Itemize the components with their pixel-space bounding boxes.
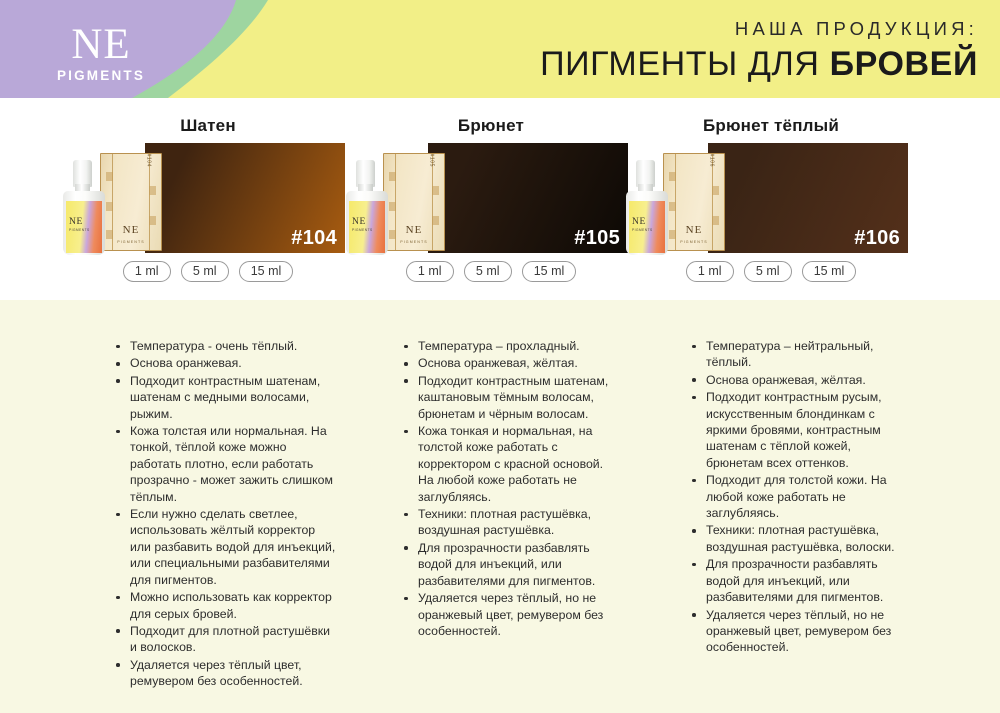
box-notch	[389, 172, 396, 181]
box-notch	[669, 172, 676, 181]
box-code-label: #106	[709, 153, 715, 167]
box-brand-label: NE	[101, 224, 161, 236]
product-descriptions-section: Температура - очень тёплый.Основа оранже…	[0, 300, 1000, 713]
volume-option-15ml[interactable]: 15 ml	[239, 261, 294, 282]
product-code: #105	[574, 227, 620, 250]
product-color-swatch: #104	[145, 143, 345, 253]
box-brand-sublabel: PIGMENTS	[384, 240, 444, 244]
header-title-group: НАША ПРОДУКЦИЯ: ПИГМЕНТЫ ДЛЯ БРОВЕЙ	[540, 18, 978, 84]
description-item: Удаляется через тёплый цвет, ремувером б…	[112, 657, 337, 690]
product-color-swatch: #105	[428, 143, 628, 253]
description-item: Температура - очень тёплый.	[112, 338, 337, 354]
description-list: Температура - очень тёплый.Основа оранже…	[112, 338, 337, 690]
description-item: Для прозрачности разбавлять водой для ин…	[400, 540, 618, 589]
product-code: #104	[291, 227, 337, 250]
product-card[interactable]: Брюнет тёплый #106 #106 NE PIGMENTS	[625, 98, 917, 300]
volume-option-5ml[interactable]: 5 ml	[464, 261, 512, 282]
volume-options: 1 ml 5 ml 15 ml	[345, 261, 637, 282]
bottle-label-sub: PIGMENTS	[69, 228, 90, 232]
product-card[interactable]: Шатен #104 #104 NE PIGMENTS	[62, 98, 354, 300]
brand-logo-main: NE	[36, 22, 166, 67]
bottle-label-brand: NE	[69, 217, 83, 227]
volume-options: 1 ml 5 ml 15 ml	[62, 261, 354, 282]
brand-logo: NE PIGMENTS	[36, 22, 166, 84]
product-catalog-page: NE PIGMENTS НАША ПРОДУКЦИЯ: ПИГМЕНТЫ ДЛЯ…	[0, 0, 1000, 713]
box-brand-label: NE	[664, 224, 724, 236]
page-title-prefix: ПИГМЕНТЫ ДЛЯ	[540, 45, 830, 83]
description-item: Основа оранжевая, жёлтая.	[400, 355, 618, 371]
description-item: Подходит контрастным шатенам, каштановым…	[400, 373, 618, 422]
box-notch	[389, 202, 396, 211]
description-item: Для прозрачности разбавлять водой для ин…	[688, 556, 906, 605]
bottle-body: NE PIGMENTS	[626, 191, 668, 255]
pigment-bottle-image: NE PIGMENTS	[62, 160, 106, 256]
bottle-label-brand: NE	[352, 217, 366, 227]
bottle-cap	[636, 160, 655, 187]
wooden-box-image: #104 NE PIGMENTS	[100, 153, 162, 251]
box-notch	[432, 186, 439, 195]
header-kicker: НАША ПРОДУКЦИЯ:	[540, 18, 978, 40]
description-column: Температура – прохладный.Основа оранжева…	[400, 338, 618, 640]
description-item: Техники: плотная растушёвка, воздушная р…	[400, 506, 618, 539]
bottle-label-sub: PIGMENTS	[352, 228, 373, 232]
box-brand-label: NE	[384, 224, 444, 236]
volume-option-15ml[interactable]: 15 ml	[522, 261, 577, 282]
description-column: Температура - очень тёплый.Основа оранже…	[112, 338, 337, 691]
page-header: NE PIGMENTS НАША ПРОДУКЦИЯ: ПИГМЕНТЫ ДЛЯ…	[0, 0, 1000, 98]
description-item: Подходит контрастным русым, искусственны…	[688, 389, 906, 471]
box-brand-sublabel: PIGMENTS	[664, 240, 724, 244]
pigment-bottle-image: NE PIGMENTS	[345, 160, 389, 256]
bottle-label-sub: PIGMENTS	[632, 228, 653, 232]
product-title: Брюнет	[345, 116, 637, 136]
volume-option-15ml[interactable]: 15 ml	[802, 261, 857, 282]
description-item: Подходит для толстой кожи. На любой коже…	[688, 472, 906, 521]
bottle-body: NE PIGMENTS	[346, 191, 388, 255]
wooden-box-image: #105 NE PIGMENTS	[383, 153, 445, 251]
description-item: Кожа тонкая и нормальная, на толстой кож…	[400, 423, 618, 505]
pigment-bottle-image: NE PIGMENTS	[625, 160, 669, 256]
description-item: Можно использовать как корректор для сер…	[112, 589, 337, 622]
description-item: Основа оранжевая.	[112, 355, 337, 371]
description-item: Подходит для плотной растушёвки и волоск…	[112, 623, 337, 656]
wooden-box-image: #106 NE PIGMENTS	[663, 153, 725, 251]
description-column: Температура – нейтральный, тёплый.Основа…	[688, 338, 906, 657]
description-item: Температура – прохладный.	[400, 338, 618, 354]
box-brand-sublabel: PIGMENTS	[101, 240, 161, 244]
description-item: Удаляется через тёплый, но не оранжевый …	[400, 590, 618, 639]
product-color-swatch: #106	[708, 143, 908, 253]
volume-option-5ml[interactable]: 5 ml	[181, 261, 229, 282]
bottle-label: NE PIGMENTS	[66, 201, 102, 253]
box-notch	[106, 172, 113, 181]
box-code-label: #104	[146, 153, 152, 167]
bottle-label-brand: NE	[632, 217, 646, 227]
box-code-label: #105	[429, 153, 435, 167]
description-item: Подходит контрастным шатенам, шатенам с …	[112, 373, 337, 422]
description-list: Температура – прохладный.Основа оранжева…	[400, 338, 618, 639]
box-notch	[669, 202, 676, 211]
page-title: ПИГМЕНТЫ ДЛЯ БРОВЕЙ	[540, 44, 978, 84]
page-title-emphasis: БРОВЕЙ	[830, 45, 978, 83]
box-notch	[712, 186, 719, 195]
bottle-label: NE PIGMENTS	[349, 201, 385, 253]
brand-logo-subtitle: PIGMENTS	[36, 68, 166, 84]
bottle-label: NE PIGMENTS	[629, 201, 665, 253]
volume-options: 1 ml 5 ml 15 ml	[625, 261, 917, 282]
volume-option-5ml[interactable]: 5 ml	[744, 261, 792, 282]
product-cards-row: Шатен #104 #104 NE PIGMENTS	[0, 98, 1000, 300]
description-item: Температура – нейтральный, тёплый.	[688, 338, 906, 371]
volume-option-1ml[interactable]: 1 ml	[406, 261, 454, 282]
volume-option-1ml[interactable]: 1 ml	[686, 261, 734, 282]
description-item: Основа оранжевая, жёлтая.	[688, 372, 906, 388]
bottle-cap	[356, 160, 375, 187]
description-item: Если нужно сделать светлее, использовать…	[112, 506, 337, 588]
description-item: Кожа толстая или нормальная. На тонкой, …	[112, 423, 337, 505]
bottle-body: NE PIGMENTS	[63, 191, 105, 255]
description-item: Удаляется через тёплый, но не оранжевый …	[688, 607, 906, 656]
box-notch	[149, 186, 156, 195]
description-item: Техники: плотная растушёвка, воздушная р…	[688, 522, 906, 555]
description-list: Температура – нейтральный, тёплый.Основа…	[688, 338, 906, 656]
box-notch	[106, 202, 113, 211]
product-card[interactable]: Брюнет #105 #105 NE PIGMENTS	[345, 98, 637, 300]
bottle-cap	[73, 160, 92, 187]
product-title: Брюнет тёплый	[625, 116, 917, 136]
product-title: Шатен	[62, 116, 354, 136]
volume-option-1ml[interactable]: 1 ml	[123, 261, 171, 282]
product-code: #106	[854, 227, 900, 250]
